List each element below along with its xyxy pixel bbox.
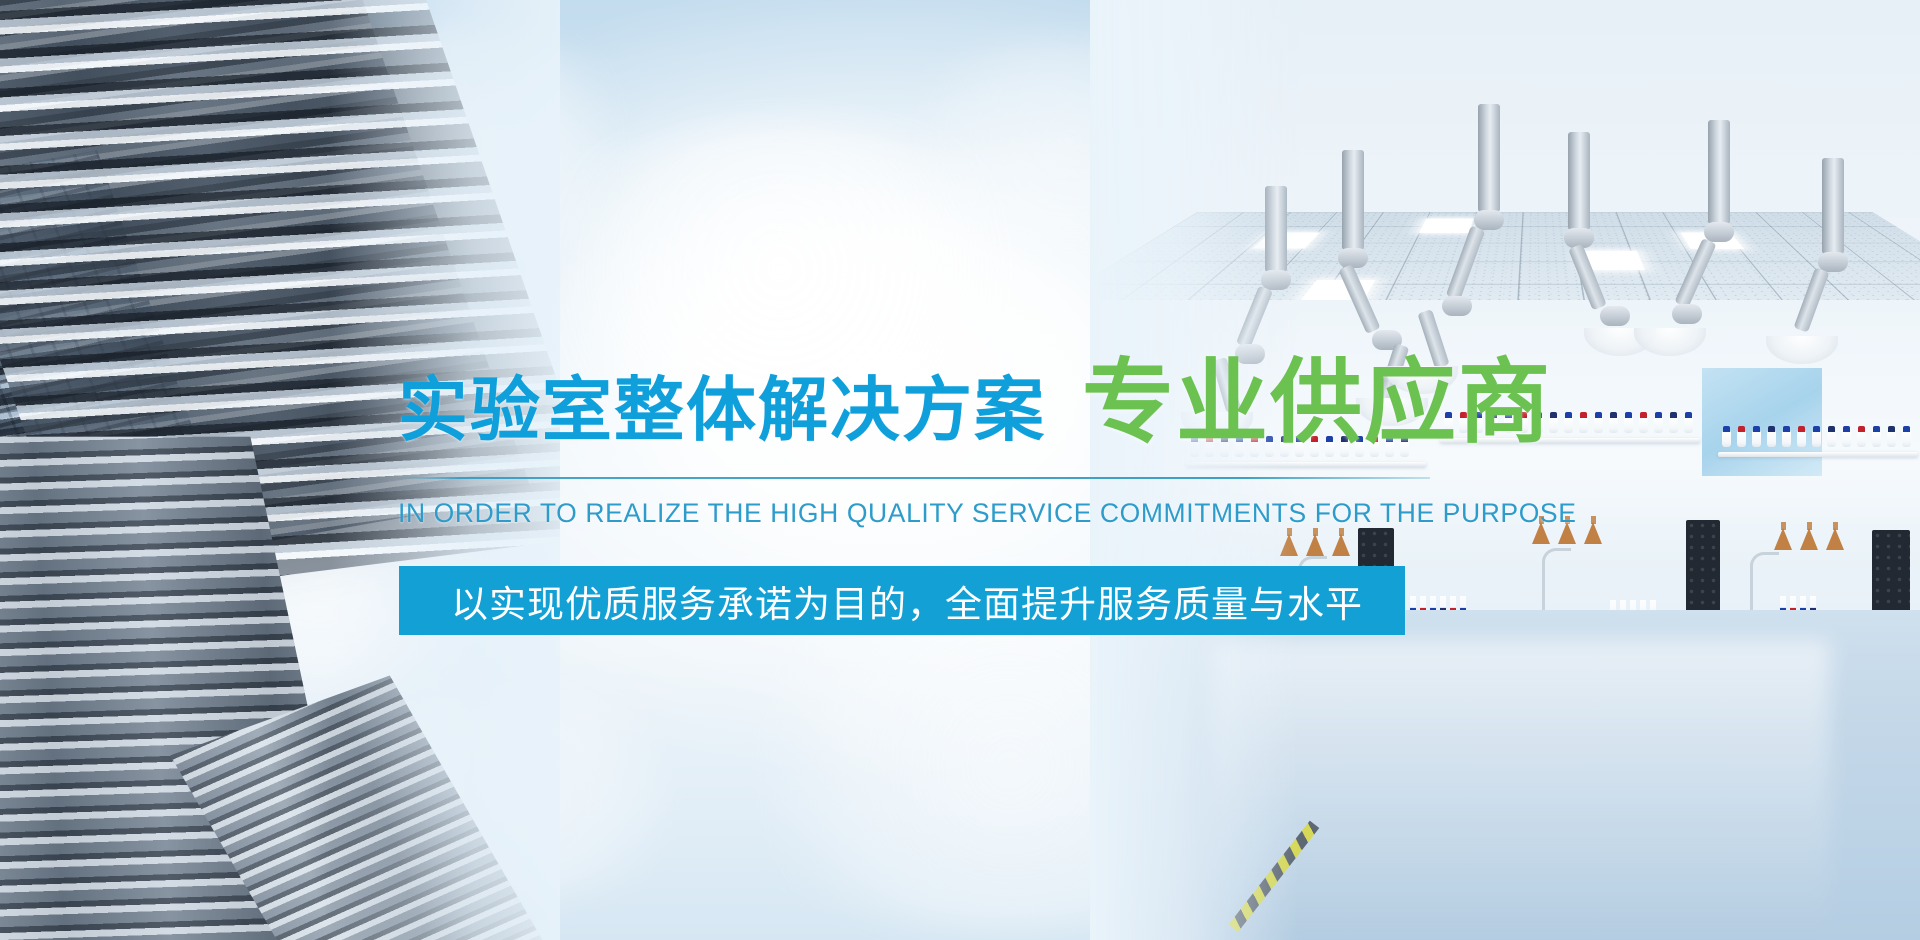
callout-bar: 以实现优质服务承诺为目的，全面提升服务质量与水平 (399, 566, 1405, 635)
headline-accent-text: 专业供应商 (1082, 357, 1552, 449)
headline-primary-text: 实验室整体解决方案 (398, 375, 1046, 445)
subtitle-english: IN ORDER TO REALIZE THE HIGH QUALITY SER… (398, 498, 1438, 529)
hero-banner: 实验室整体解决方案 专业供应商 IN ORDER TO REALIZE THE … (0, 0, 1920, 940)
headline-divider (398, 477, 1430, 479)
banner-text-overlay: 实验室整体解决方案 专业供应商 IN ORDER TO REALIZE THE … (0, 0, 1920, 940)
headline: 实验室整体解决方案 专业供应商 (398, 357, 1552, 449)
callout-bar-text: 以实现优质服务承诺为目的，全面提升服务质量与水平 (451, 574, 1363, 628)
